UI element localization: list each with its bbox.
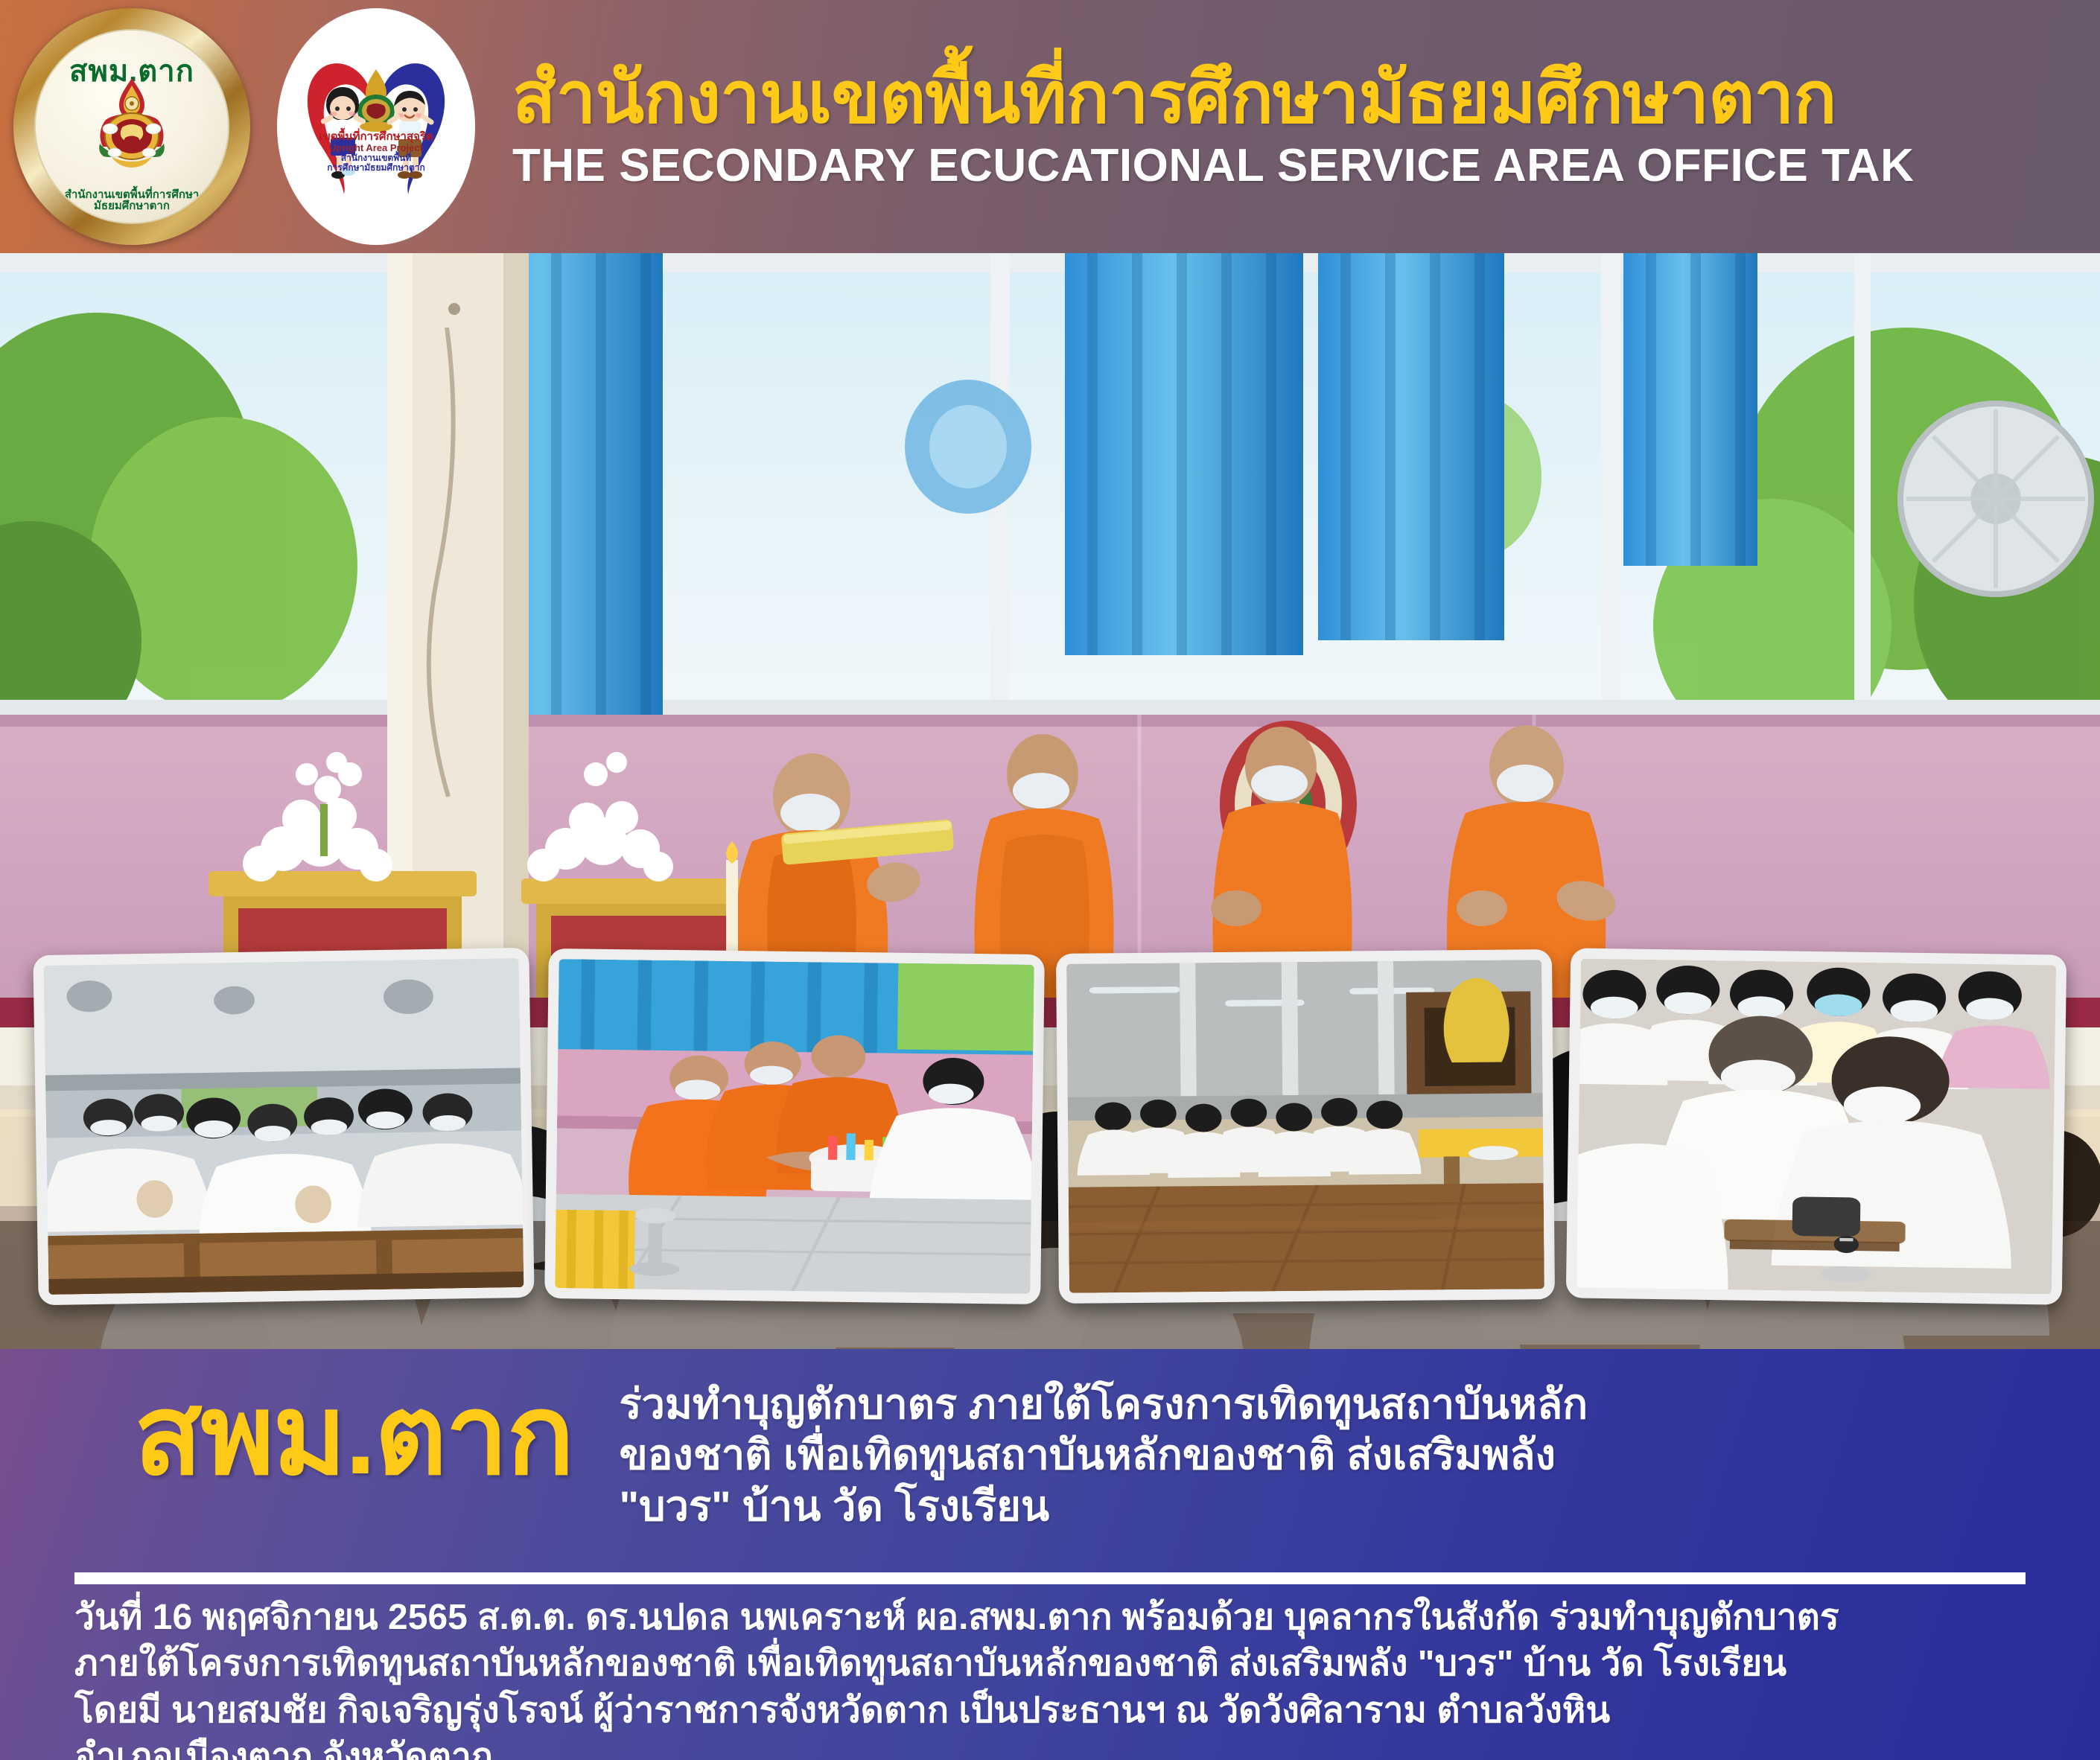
header-title-thai: สำนักงานเขตพื้นที่การศึกษามัธยมศึกษาตาก: [512, 63, 2078, 134]
banner-body-line-1: วันที่ 16 พฤศจิกายน 2565 ส.ต.ต. ดร.นปดล …: [74, 1595, 2026, 1641]
sesao-tak-seal-logo: สพม.ตาก: [13, 8, 250, 245]
banner-body-line-3: โดยมี นายสมชัย กิจเจริญรุ่งโรจน์ ผู้ว่าร…: [74, 1688, 2026, 1734]
banner-headline-block: ร่วมทำบุญตักบาตร ภายใต้โครงการเทิดทูนสถา…: [573, 1368, 2055, 1531]
seal-inner: สพม.ตาก: [34, 29, 229, 224]
logo2-caption-th: เขตพื้นที่การศึกษาสุจริต: [298, 131, 454, 143]
thumbnail-3[interactable]: [1056, 949, 1555, 1304]
photo-thumbnail-strip: [0, 951, 2100, 1324]
congregation-praying-photo: [44, 958, 524, 1295]
banner-headline-line-1: ร่วมทำบุญตักบาตร ภายใต้โครงการเทิดทูนสถา…: [619, 1379, 2055, 1429]
temple-hall-wide-photo: [1066, 960, 1544, 1293]
poster-root: สพม.ตาก: [0, 0, 2100, 1760]
thumbnail-2[interactable]: [544, 948, 1045, 1304]
heart-children-icon: [283, 34, 469, 220]
logo2-caption-org-1: สำนักงานเขตพื้นที่: [298, 153, 454, 163]
thumbnail-1[interactable]: [33, 948, 534, 1305]
thumbnail-3-image: [1066, 960, 1544, 1293]
banner-top-row: สพม.ตาก ร่วมทำบุญตักบาตร ภายใต้โครงการเท…: [0, 1349, 2100, 1565]
foreground-white: [1576, 1142, 1730, 1289]
banner-body-line-2: ภายใต้โครงการเทิดทูนสถาบันหลักของชาติ เพ…: [74, 1641, 2026, 1687]
thumbnail-4-image: [1576, 959, 2056, 1295]
thumbnail-4[interactable]: [1566, 948, 2066, 1304]
logo2-caption-block: เขตพื้นที่การศึกษาสุจริต Upright Area Pr…: [298, 131, 454, 172]
thumbnail-2-image: [555, 959, 1034, 1294]
banner-body-block: วันที่ 16 พฤศจิกายน 2565 ส.ต.ต. ดร.นปดล …: [0, 1595, 2100, 1760]
alms-offering-photo: [555, 959, 1034, 1294]
caption-banner: สพม.ตาก ร่วมทำบุญตักบาตร ภายใต้โครงการเท…: [0, 1349, 2100, 1760]
altar-gold: [1443, 978, 1509, 1062]
seal-bottom-label: สำนักงานเขตพื้นที่การศึกษามัธยมศึกษาตาก: [36, 189, 228, 213]
logo2-caption-org-2: การศึกษามัธยมศึกษาตาก: [298, 163, 454, 173]
seated-row: [1077, 1097, 1422, 1179]
header-title-english: THE SECONDARY ECUCATIONAL SERVICE AREA O…: [512, 141, 2078, 190]
banner-body-line-4: อำเภอเมืองตาก จังหวัดตาก: [74, 1734, 2026, 1760]
logo2-caption-en: Upright Area Project: [298, 143, 454, 153]
banner-headline-line-3: "บวร" บ้าน วัด โรงเรียน: [619, 1481, 2055, 1531]
header-title-block: สำนักงานเขตพื้นที่การศึกษามัธยมศึกษาตาก …: [512, 63, 2100, 190]
banner-divider: [74, 1572, 2026, 1584]
attendees-closeup-photo: [1576, 959, 2056, 1295]
upright-area-project-logo: เขตพื้นที่การศึกษาสุจริต Upright Area Pr…: [277, 8, 475, 245]
thumbnail-1-image: [44, 958, 524, 1295]
page-header: สพม.ตาก: [0, 0, 2100, 253]
royal-emblem-icon: [83, 75, 180, 187]
banner-title: สพม.ตาก: [45, 1368, 573, 1490]
banner-headline-line-2: ของชาติ เพื่อเทิดทูนสถาบันหลักของชาติ ส่…: [619, 1429, 2055, 1480]
ceiling-fan: [1900, 404, 2091, 594]
